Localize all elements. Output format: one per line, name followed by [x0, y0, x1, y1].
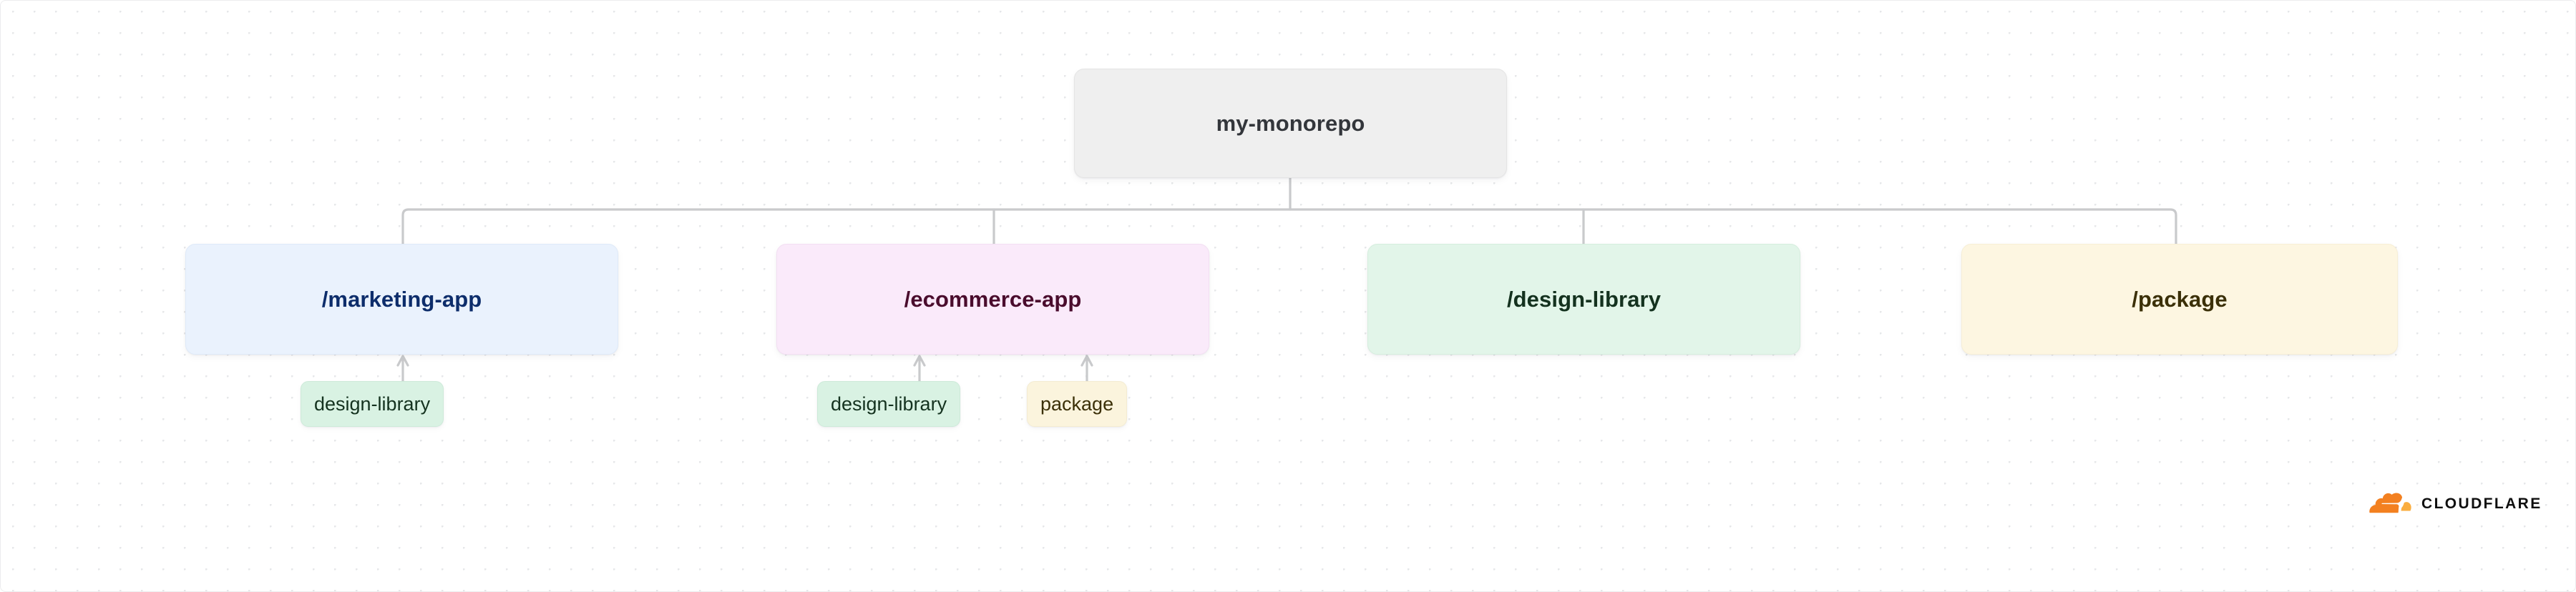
edge-bus	[403, 209, 2176, 244]
arrowhead-ecommerce-package	[1082, 356, 1092, 365]
node-my-monorepo-label: my-monorepo	[1216, 111, 1365, 137]
node-marketing-app-label: /marketing-app	[322, 287, 482, 312]
node-design-library[interactable]: /design-library	[1367, 244, 1800, 355]
node-my-monorepo[interactable]: my-monorepo	[1074, 69, 1507, 178]
dependency-chip-marketing-design-library[interactable]: design-library	[301, 381, 444, 427]
node-marketing-app[interactable]: /marketing-app	[185, 244, 618, 355]
dependency-chip-ecommerce-package[interactable]: package	[1027, 381, 1127, 427]
cloudflare-cloud-icon	[2369, 493, 2414, 515]
node-package[interactable]: /package	[1961, 244, 2398, 355]
node-design-library-label: /design-library	[1507, 287, 1661, 312]
arrowhead-marketing-design	[398, 356, 408, 365]
arrowhead-ecommerce-design	[914, 356, 924, 365]
node-ecommerce-app[interactable]: /ecommerce-app	[776, 244, 1209, 355]
cloudflare-logo: CLOUDFLARE	[2369, 493, 2542, 515]
node-package-label: /package	[2132, 287, 2228, 312]
diagram-canvas[interactable]: my-monorepo /marketing-app /ecommerce-ap…	[0, 0, 2576, 592]
cloudflare-wordmark: CLOUDFLARE	[2421, 496, 2542, 511]
node-ecommerce-app-label: /ecommerce-app	[904, 287, 1082, 312]
dependency-chip-ecommerce-design-library[interactable]: design-library	[817, 381, 960, 427]
